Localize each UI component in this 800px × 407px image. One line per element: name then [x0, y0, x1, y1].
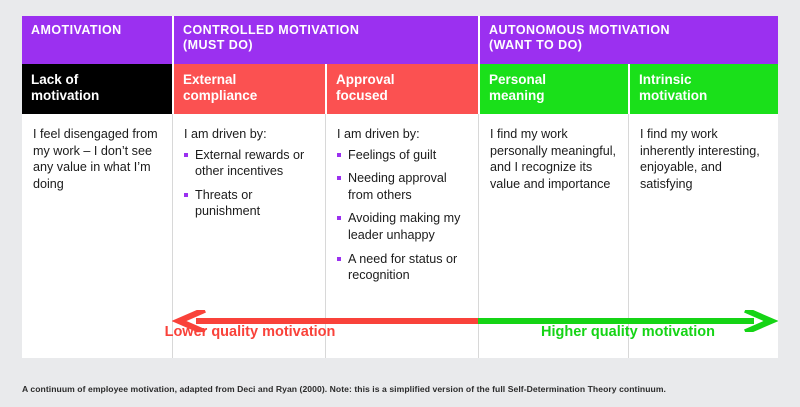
arrow-strip-col4 — [478, 310, 628, 358]
column-heading-approval-focused: Approval focused — [325, 64, 478, 114]
column-heading-personal-meaning: Personal meaning — [478, 64, 628, 114]
band-autonomous-motivation: AUTONOMOUS MOTIVATION (WANT TO DO) — [478, 16, 778, 64]
heading-line1: Personal — [489, 72, 619, 88]
band-controlled-line1: CONTROLLED MOTIVATION — [183, 23, 469, 38]
arrow-strip-col3 — [325, 310, 478, 358]
cell-intro-text: I am driven by: — [337, 126, 467, 143]
heading-line2: focused — [336, 88, 469, 104]
heading-line1: Approval — [336, 72, 469, 88]
column-heading-intrinsic-motivation: Intrinsic motivation — [628, 64, 778, 114]
column-heading-external-compliance: External compliance — [172, 64, 325, 114]
list-item: Threats or punishment — [184, 187, 314, 220]
cell-intro-text: I am driven by: — [184, 126, 314, 143]
heading-line2: meaning — [489, 88, 619, 104]
cell-external-compliance: I am driven by: External rewards or othe… — [172, 114, 325, 310]
cell-intro-text: I find my work personally meaningful, an… — [490, 126, 617, 192]
figure-caption: A continuum of employee motivation, adap… — [22, 384, 782, 395]
cell-bullet-list: Feelings of guilt Needing approval from … — [337, 147, 467, 284]
heading-line2: motivation — [639, 88, 769, 104]
list-item: Needing approval from others — [337, 170, 467, 203]
heading-line2: compliance — [183, 88, 316, 104]
cell-intrinsic-motivation: I find my work inherently interesting, e… — [628, 114, 778, 310]
band-autonomous-line1: AUTONOMOUS MOTIVATION — [489, 23, 769, 38]
arrow-strip-col1 — [22, 310, 172, 358]
heading-line1: Lack of — [31, 72, 163, 88]
list-item: Feelings of guilt — [337, 147, 467, 164]
heading-line1: External — [183, 72, 316, 88]
continuum-grid: AMOTIVATION CONTROLLED MOTIVATION (MUST … — [22, 16, 778, 358]
heading-line1: Intrinsic — [639, 72, 769, 88]
band-controlled-line2: (MUST DO) — [183, 38, 469, 53]
list-item: External rewards or other incentives — [184, 147, 314, 180]
list-item: A need for status or recognition — [337, 251, 467, 284]
band-autonomous-line2: (WANT TO DO) — [489, 38, 769, 53]
cell-bullet-list: External rewards or other incentives Thr… — [184, 147, 314, 220]
motivation-continuum-card: AMOTIVATION CONTROLLED MOTIVATION (MUST … — [22, 16, 778, 358]
column-heading-lack-of-motivation: Lack of motivation — [22, 64, 172, 114]
band-controlled-motivation: CONTROLLED MOTIVATION (MUST DO) — [172, 16, 478, 64]
arrow-strip-col2 — [172, 310, 325, 358]
heading-line2: motivation — [31, 88, 163, 104]
arrow-strip-col5 — [628, 310, 778, 358]
cell-amotivation: I feel disengaged from my work – I don’t… — [22, 114, 172, 310]
list-item: Avoiding making my leader unhappy — [337, 210, 467, 243]
cell-personal-meaning: I find my work personally meaningful, an… — [478, 114, 628, 310]
band-amotivation: AMOTIVATION — [22, 16, 172, 64]
band-amotivation-label: AMOTIVATION — [31, 23, 163, 38]
cell-intro-text: I find my work inherently interesting, e… — [640, 126, 767, 192]
cell-intro-text: I feel disengaged from my work – I don’t… — [33, 126, 161, 192]
cell-approval-focused: I am driven by: Feelings of guilt Needin… — [325, 114, 478, 310]
